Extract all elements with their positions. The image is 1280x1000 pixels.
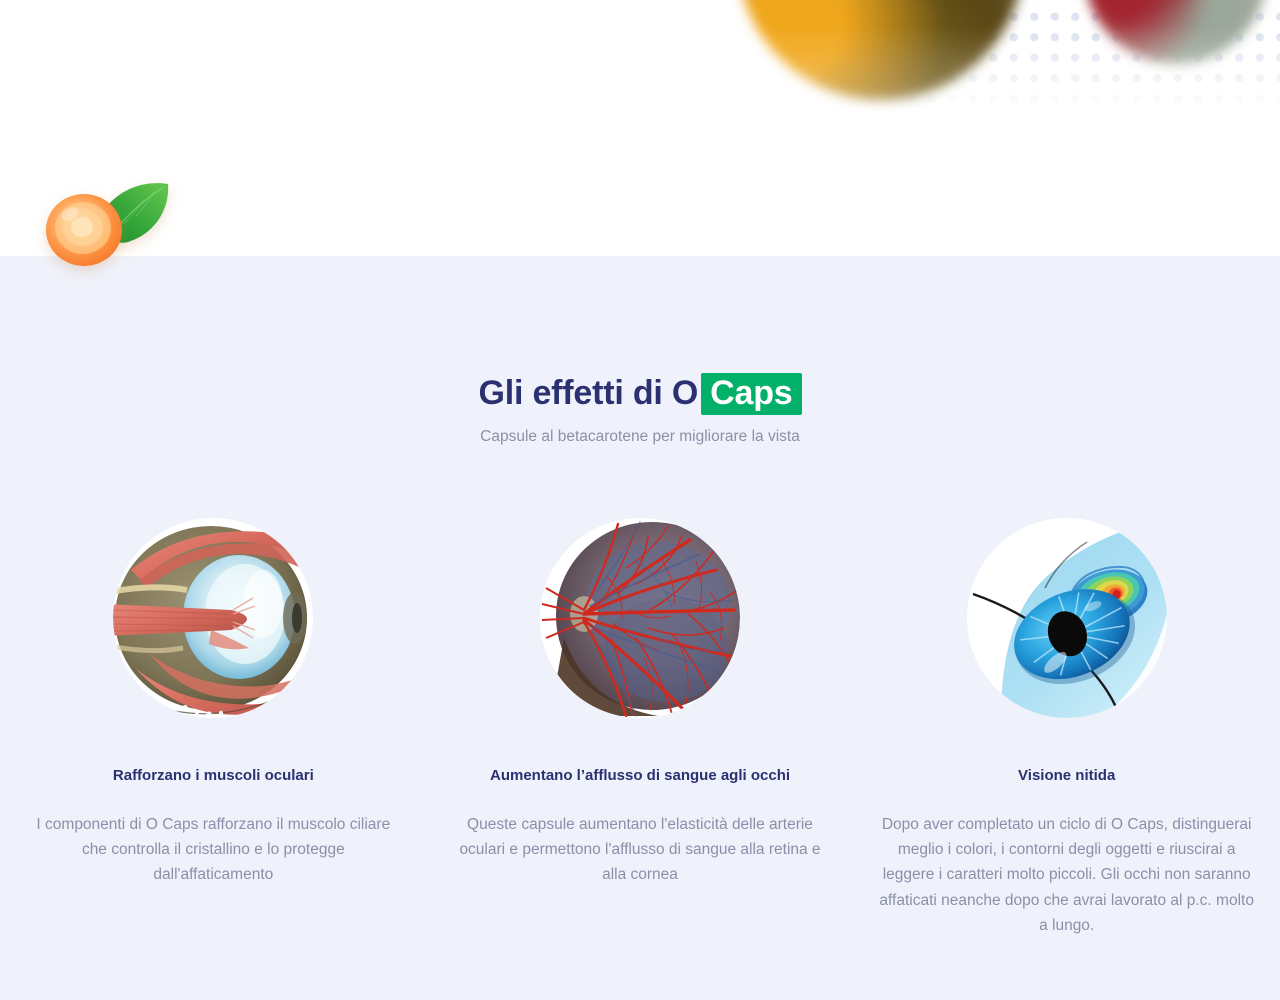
section-header: Gli effetti di OCaps Capsule al betacaro… (0, 372, 1280, 447)
feature-card-title: Visione nitida (1018, 766, 1115, 786)
feature-card: Visione nitida Dopo aver completato un c… (853, 518, 1280, 938)
retinal-blood-vessels-image (540, 518, 740, 718)
section-subtitle: Capsule al betacarotene per migliorare l… (0, 426, 1280, 448)
feature-card-text: I componenti di O Caps rafforzano il mus… (28, 812, 398, 887)
eye-muscles-anatomy-image (113, 518, 313, 718)
iris-corneal-topography-image (967, 518, 1167, 718)
feature-card-text: Dopo aver completato un ciclo di O Caps,… (876, 812, 1258, 938)
feature-card: Aumentano l’afflusso di sangue agli occh… (427, 518, 854, 888)
feature-card: Rafforzano i muscoli oculari I component… (0, 518, 427, 888)
feature-card-list: Rafforzano i muscoli oculari I component… (0, 518, 1280, 938)
effects-section: Gli effetti di OCaps Capsule al betacaro… (0, 256, 1280, 1000)
section-title-highlight: Caps (701, 373, 801, 415)
hero-decoration-band (0, 0, 1280, 256)
section-title-lead: Gli effetti di O (478, 374, 698, 412)
feature-card-title: Rafforzano i muscoli oculari (113, 766, 314, 786)
feature-card-title: Aumentano l’afflusso di sangue agli occh… (490, 766, 790, 786)
feature-card-text: Queste capsule aumentano l'elasticità de… (455, 812, 825, 887)
carrot-slice-with-leaf-illustration (36, 172, 186, 282)
page-title: Gli effetti di OCaps (0, 372, 1280, 415)
landing-page: Gli effetti di OCaps Capsule al betacaro… (0, 0, 1280, 1000)
